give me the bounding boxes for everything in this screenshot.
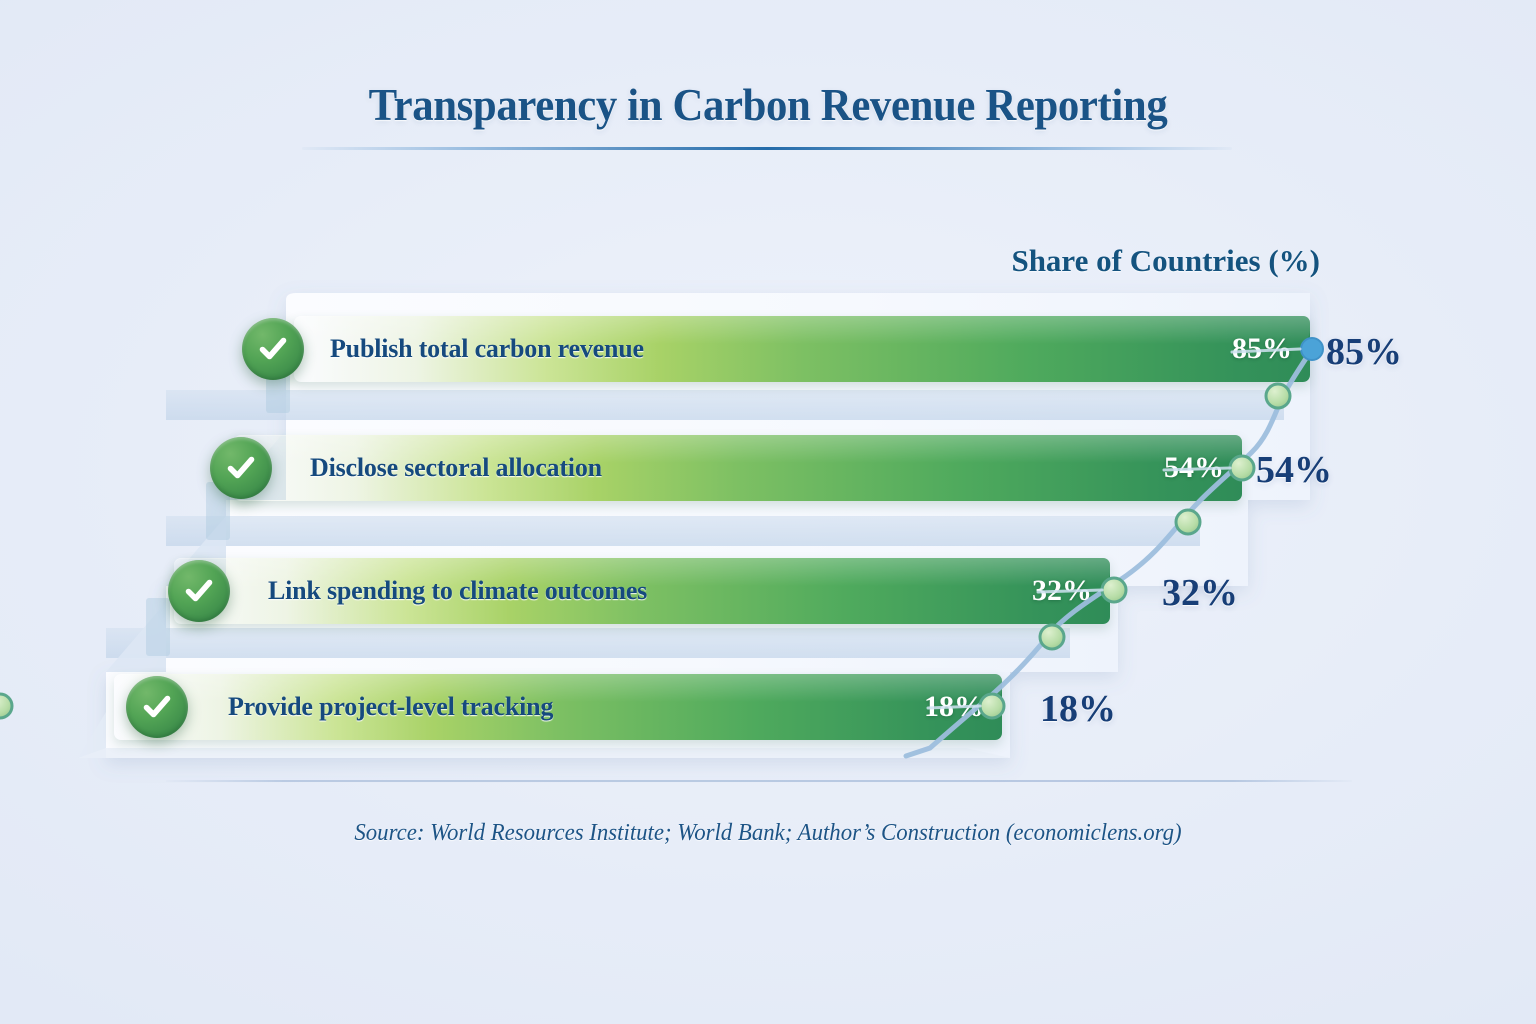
check-icon [255, 331, 291, 367]
infographic-canvas: Transparency in Carbon Revenue Reporting… [0, 0, 1536, 1024]
trend-connector-line [0, 0, 1536, 1024]
check-icon [181, 573, 217, 609]
check-icon [139, 689, 175, 725]
check-icon [223, 450, 259, 486]
check-badge[interactable] [126, 676, 188, 738]
check-badge[interactable] [242, 318, 304, 380]
check-badge[interactable] [210, 437, 272, 499]
check-badge[interactable] [168, 560, 230, 622]
